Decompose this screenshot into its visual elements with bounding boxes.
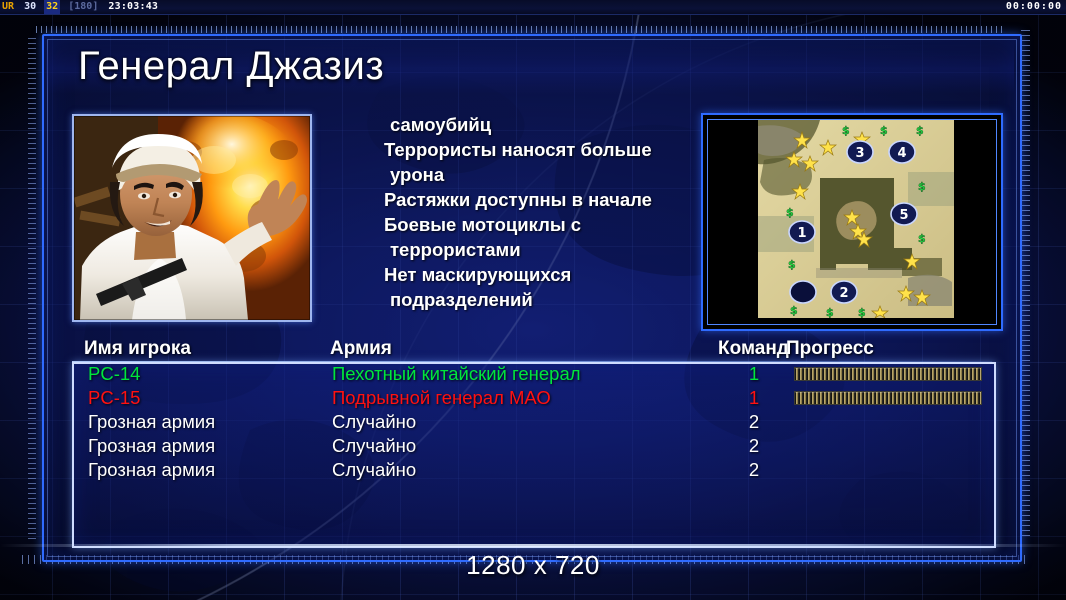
bonus-line: террористами (322, 237, 694, 262)
system-clock: 23:03:43 (106, 0, 160, 14)
player-table-header: Имя игрока Армия Команд Прогресс (72, 337, 992, 363)
status-bracket: [180] (66, 0, 100, 14)
minimap-preview: $ $ $ $ $ $ $ $ $ $ 1 (701, 113, 1003, 331)
svg-text:5: 5 (899, 208, 908, 223)
cell-army: Случайно (332, 434, 416, 458)
svg-text:3: 3 (855, 146, 864, 161)
bonus-line: Боевые мотоциклы с (322, 212, 694, 237)
svg-text:$: $ (842, 124, 850, 137)
bonus-line: самоубийц (322, 112, 694, 137)
table-row[interactable]: Грозная армияСлучайно2 (84, 434, 994, 458)
cell-player-name: Грозная армия (88, 458, 215, 482)
page-title: Генерал Джазиз (78, 40, 384, 92)
cell-player-name: Грозная армия (88, 434, 215, 458)
cell-team: 1 (739, 386, 769, 410)
bonus-line: подразделений (322, 287, 694, 312)
svg-text:4: 4 (897, 146, 906, 161)
cell-team: 2 (739, 458, 769, 482)
player-rows: PC-14Пехотный китайский генерал1PC-15Под… (84, 362, 994, 482)
svg-text:$: $ (918, 232, 926, 245)
cell-player-name: PC-15 (88, 386, 140, 410)
progress-bar (794, 367, 982, 381)
portrait-artwork (74, 116, 310, 320)
bonus-line: урона (322, 162, 694, 187)
footer-sheen (0, 544, 1066, 547)
svg-text:$: $ (786, 206, 794, 219)
minimap-inner-frame: $ $ $ $ $ $ $ $ $ $ 1 (707, 119, 997, 325)
svg-text:$: $ (790, 304, 798, 317)
cell-army: Случайно (332, 410, 416, 434)
svg-text:$: $ (918, 180, 926, 193)
cell-team: 2 (739, 434, 769, 458)
cell-player-name: PC-14 (88, 362, 140, 386)
table-row[interactable]: Грозная армияСлучайно2 (84, 410, 994, 434)
game-screen: UR 30 32 [180] 23:03:43 00:00:00 Генерал… (0, 0, 1066, 600)
cell-progress (794, 391, 982, 405)
general-portrait (72, 114, 312, 322)
column-header-progress: Прогресс (786, 337, 874, 361)
minimap-terrain: $ $ $ $ $ $ $ $ $ $ 1 (758, 120, 954, 318)
svg-text:$: $ (880, 124, 888, 137)
cell-army: Пехотный китайский генерал (332, 362, 581, 386)
status-label: UR (0, 0, 16, 14)
table-row[interactable]: PC-15Подрывной генерал МАО1 (84, 386, 994, 410)
status-value-1: 30 (22, 0, 38, 14)
cell-team: 2 (739, 410, 769, 434)
general-bonus-list: самоубийцТеррористы наносят большеуронаР… (322, 112, 694, 320)
progress-bar (794, 391, 982, 405)
cell-army: Случайно (332, 458, 416, 482)
svg-text:$: $ (858, 306, 866, 318)
cell-progress (794, 367, 982, 381)
bonus-line: Террористы наносят больше (322, 137, 694, 162)
status-value-2: 32 (44, 0, 60, 14)
match-timer: 00:00:00 (1006, 0, 1062, 14)
svg-text:$: $ (916, 124, 924, 137)
cell-army: Подрывной генерал МАО (332, 386, 551, 410)
column-header-team: Команд (718, 337, 796, 361)
cell-team: 1 (739, 362, 769, 386)
column-header-player-name: Имя игрока (84, 337, 191, 361)
bonus-line: Растяжки доступны в начале (322, 187, 694, 212)
svg-text:1: 1 (797, 226, 806, 241)
bonus-line: Нет маскирующихся (322, 262, 694, 287)
table-row[interactable]: PC-14Пехотный китайский генерал1 (84, 362, 994, 386)
cell-player-name: Грозная армия (88, 410, 215, 434)
resolution-label: 1280 x 720 (0, 549, 1066, 581)
player-table-panel: PC-14Пехотный китайский генерал1PC-15Под… (72, 362, 996, 548)
svg-text:$: $ (826, 306, 834, 318)
svg-text:$: $ (788, 258, 796, 271)
svg-text:2: 2 (839, 286, 848, 301)
top-status-bar: UR 30 32 [180] 23:03:43 00:00:00 (0, 0, 1066, 15)
table-row[interactable]: Грозная армияСлучайно2 (84, 458, 994, 482)
column-header-army: Армия (330, 337, 392, 361)
